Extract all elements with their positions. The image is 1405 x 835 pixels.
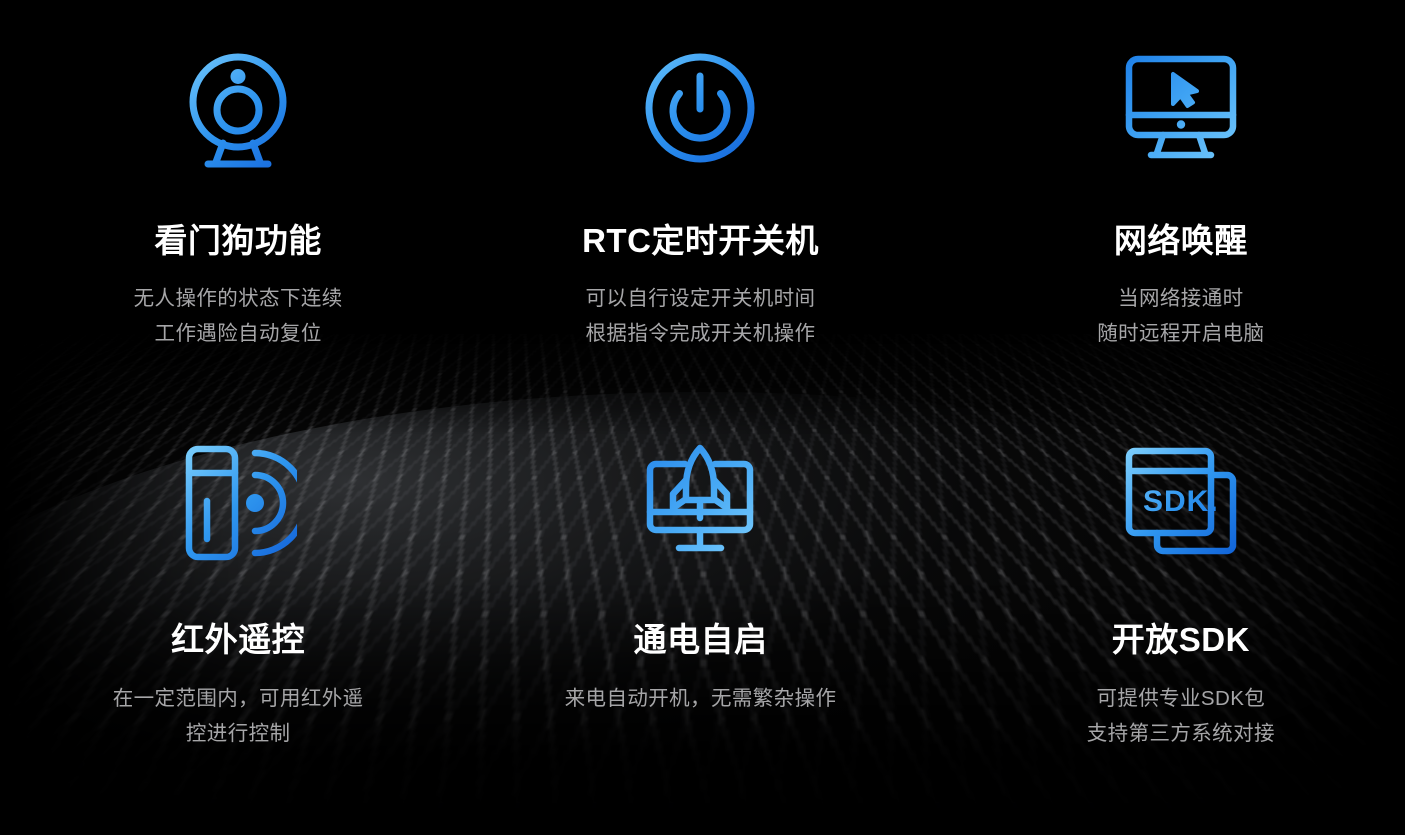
feature-title: RTC定时开关机 xyxy=(582,224,819,257)
feature-description-line: 控进行控制 xyxy=(113,716,364,751)
feature-description-line: 支持第三方系统对接 xyxy=(1087,716,1275,751)
feature-description: 当网络接通时 随时远程开启电脑 xyxy=(1097,281,1264,351)
feature-title: 开放SDK xyxy=(1112,623,1250,656)
monitor-rocket-icon xyxy=(625,437,775,569)
feature-description-line: 无人操作的状态下连续 xyxy=(134,281,343,316)
feature-description-line: 可以自行设定开关机时间 xyxy=(586,281,816,316)
remote-control-signal-icon xyxy=(163,437,313,569)
sdk-icon-label: SDK. xyxy=(1143,485,1219,518)
feature-card-wake-on-lan[interactable]: 网络唤醒 当网络接通时 随时远程开启电脑 xyxy=(947,0,1405,415)
feature-grid: 看门狗功能 无人操作的状态下连续 工作遇险自动复位 xyxy=(0,0,1405,835)
feature-card-open-sdk[interactable]: SDK. 开放SDK 可提供专业SDK包 支持第三方系统对接 xyxy=(947,415,1405,835)
feature-description-line: 在一定范围内，可用红外遥 xyxy=(113,681,364,716)
feature-title: 看门狗功能 xyxy=(154,224,322,257)
feature-description: 来电自动开机，无需繁杂操作 xyxy=(565,681,837,716)
feature-card-watchdog[interactable]: 看门狗功能 无人操作的状态下连续 工作遇险自动复位 xyxy=(4,0,472,415)
feature-description: 可提供专业SDK包 支持第三方系统对接 xyxy=(1087,681,1275,751)
feature-description-line: 根据指令完成开关机操作 xyxy=(586,316,816,351)
monitor-cursor-icon xyxy=(1106,44,1256,176)
power-button-icon xyxy=(625,44,775,176)
feature-description-line: 随时远程开启电脑 xyxy=(1097,316,1264,351)
feature-title: 通电自启 xyxy=(633,623,767,656)
feature-description: 无人操作的状态下连续 工作遇险自动复位 xyxy=(134,281,343,351)
feature-card-auto-power-on[interactable]: 通电自启 来电自动开机，无需繁杂操作 xyxy=(466,415,934,835)
feature-description-line: 可提供专业SDK包 xyxy=(1087,681,1275,716)
feature-description: 在一定范围内，可用红外遥 控进行控制 xyxy=(113,681,364,751)
feature-description-line: 工作遇险自动复位 xyxy=(134,316,343,351)
feature-card-rtc-power[interactable]: RTC定时开关机 可以自行设定开关机时间 根据指令完成开关机操作 xyxy=(466,0,934,415)
feature-description-line: 当网络接通时 xyxy=(1097,281,1264,316)
webcam-icon xyxy=(163,44,313,176)
feature-description-line: 来电自动开机，无需繁杂操作 xyxy=(565,681,837,716)
feature-title: 网络唤醒 xyxy=(1114,224,1248,257)
feature-card-infrared-remote[interactable]: 红外遥控 在一定范围内，可用红外遥 控进行控制 xyxy=(4,415,472,835)
feature-description: 可以自行设定开关机时间 根据指令完成开关机操作 xyxy=(586,281,816,351)
feature-title: 红外遥控 xyxy=(171,623,305,656)
sdk-windows-icon: SDK. xyxy=(1106,437,1256,569)
